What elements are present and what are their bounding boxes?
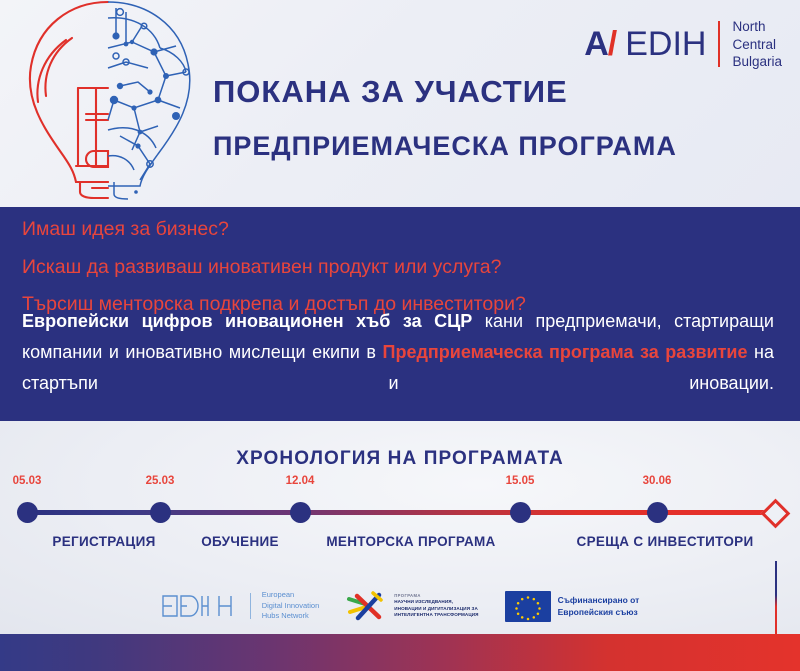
intro-section: Имаш идея за бизнес? Искаш да развиваш и… — [0, 207, 800, 421]
brand-ai-mark: A/ — [584, 27, 616, 61]
intro-paragraph-accent: Предприемаческа програма за развитие — [383, 342, 748, 362]
title-line-1: ПОКАНА ЗА УЧАСТИЕ — [213, 76, 677, 107]
brand-logo: A/ EDIH North Central Bulgaria — [584, 18, 782, 71]
edih-network-line1: European — [262, 590, 320, 601]
program-line2: ИНОВАЦИИ И ДИГИТАЛИЗАЦИЯ ЗА — [394, 606, 478, 613]
timeline-label: РЕГИСТРАЦИЯ — [52, 534, 155, 549]
edih-network-logo: European Digital Innovation Hubs Network — [161, 590, 320, 623]
timeline-label: СРЕЩА С ИНВЕСТИТОРИ — [577, 534, 754, 549]
timeline-node[interactable] — [290, 502, 311, 523]
timeline-node[interactable] — [510, 502, 531, 523]
program-text: ПРОГРАМА НАУЧНИ ИЗСЛЕДВАНИЯ, ИНОВАЦИИ И … — [394, 593, 478, 619]
eu-cofunding-line2: Европейския съюз — [558, 606, 640, 618]
timeline-node[interactable] — [17, 502, 38, 523]
timeline-date: 25.03 — [146, 475, 175, 487]
page-title: ПОКАНА ЗА УЧАСТИЕ ПРЕДПРИЕМАЧЕСКА ПРОГРА… — [213, 76, 677, 160]
timeline-label: МЕНТОРСКА ПРОГРАМА — [326, 534, 495, 549]
intro-paragraph: Европейски цифров иновационен хъб за СЦР… — [22, 306, 774, 399]
question-item: Имаш идея за бизнес? — [22, 220, 778, 240]
eu-cofunding-text: Съфинансирано от Европейския съюз — [558, 594, 640, 619]
logo-divider — [250, 593, 251, 619]
brand-location-line3: Bulgaria — [732, 53, 782, 71]
brand-ai-letter: A — [584, 25, 608, 63]
lightbulb-brain-icon — [8, 0, 208, 201]
title-line-2: ПРЕДПРИЕМАЧЕСКА ПРОГРАМА — [213, 133, 677, 160]
timeline-label: ОБУЧЕНИЕ — [201, 534, 279, 549]
timeline-node[interactable] — [150, 502, 171, 523]
eu-flag-icon — [505, 591, 551, 622]
brand-divider — [718, 21, 720, 67]
program-line3: ИНТЕЛИГЕНТНА ТРАНСФОРМАЦИЯ — [394, 612, 478, 619]
eu-cofunding-logo: Съфинансирано от Европейския съюз — [505, 591, 640, 622]
edih-wordmark-icon — [161, 593, 239, 619]
program-line1: НАУЧНИ ИЗСЛЕДВАНИЯ, — [394, 599, 478, 606]
edih-network-line2: Digital Innovation — [262, 601, 320, 612]
brand-edih-text: EDIH — [625, 27, 706, 61]
program-x-icon — [345, 591, 387, 621]
header-section: A/ EDIH North Central Bulgaria ПОКАНА ЗА… — [0, 0, 800, 207]
timeline-date: 15.05 — [506, 475, 535, 487]
footer-logos: European Digital Innovation Hubs Network… — [0, 578, 800, 634]
timeline-date: 30.06 — [643, 475, 672, 487]
bottom-gradient-bar — [0, 634, 800, 671]
brand-ai-slash: / — [608, 25, 616, 63]
intro-paragraph-lead: Европейски цифров иновационен хъб за СЦР — [22, 311, 472, 331]
eu-cofunding-line1: Съфинансирано от — [558, 594, 640, 606]
edih-network-text: European Digital Innovation Hubs Network — [262, 590, 320, 623]
timeline-title: ХРОНОЛОГИЯ НА ПРОГРАМАТА — [0, 448, 800, 470]
timeline-date: 05.03 — [13, 475, 42, 487]
program-logo: ПРОГРАМА НАУЧНИ ИЗСЛЕДВАНИЯ, ИНОВАЦИИ И … — [345, 591, 478, 621]
brand-location: North Central Bulgaria — [732, 18, 782, 71]
brand-location-line2: Central — [732, 36, 782, 54]
edih-network-line3: Hubs Network — [262, 611, 320, 622]
timeline-end-diamond-icon — [760, 499, 790, 529]
question-item: Искаш да развиваш иновативен продукт или… — [22, 258, 778, 278]
timeline-node[interactable] — [647, 502, 668, 523]
brand-location-line1: North — [732, 18, 782, 36]
poster-root: A/ EDIH North Central Bulgaria ПОКАНА ЗА… — [0, 0, 800, 671]
timeline-date: 12.04 — [286, 475, 315, 487]
